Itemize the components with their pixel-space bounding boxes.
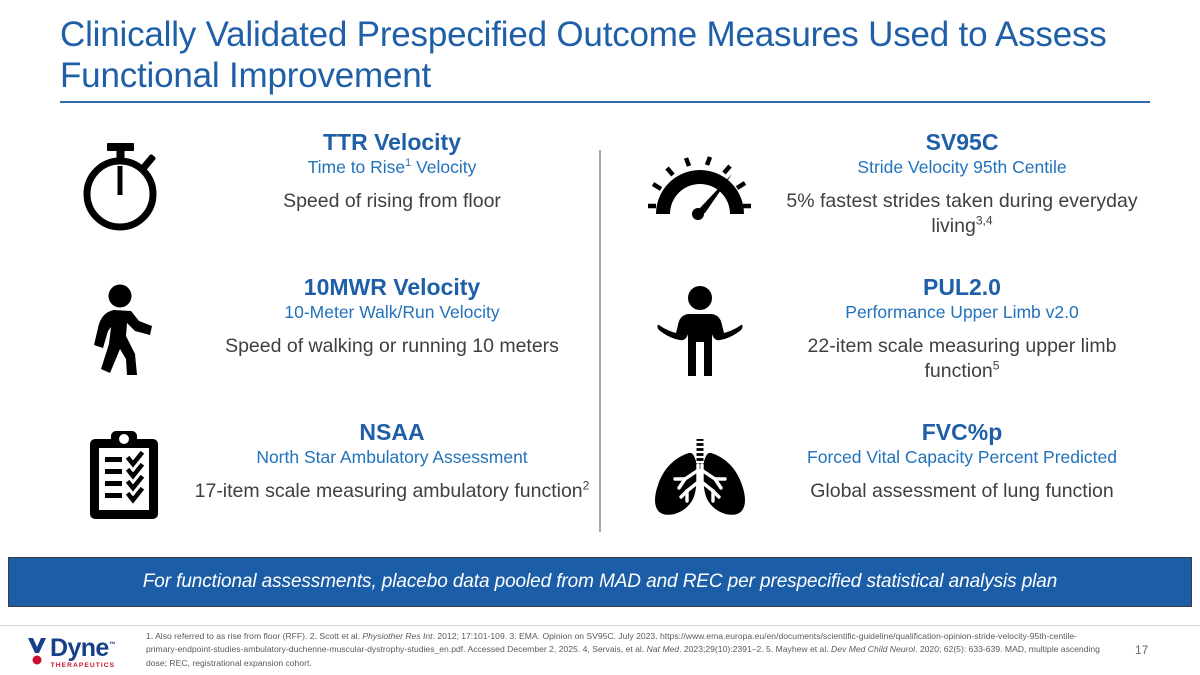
dyne-logo-subtitle: THERAPEUTICS [50, 662, 115, 669]
measure-abbr: 10MWR Velocity [192, 273, 592, 301]
page-number: 17 [1135, 643, 1148, 657]
measure-description-superscript: 2 [583, 478, 590, 492]
right-measures-column: SV95C Stride Velocity 95th Centile 5% fa… [612, 128, 1152, 563]
dyne-logo-mark-icon [26, 636, 48, 664]
stopwatch-icon [64, 136, 184, 236]
measure-text-block: TTR Velocity Time to Rise1 Velocity Spee… [192, 128, 592, 214]
dyne-logo-name-text: Dyne [50, 634, 109, 662]
slide-root: Clinically Validated Prespecified Outcom… [0, 0, 1200, 675]
measure-item-ttr-velocity: TTR Velocity Time to Rise1 Velocity Spee… [52, 128, 592, 273]
measure-description: Speed of rising from floor [192, 189, 592, 215]
page-title: Clinically Validated Prespecified Outcom… [60, 14, 1150, 97]
measure-abbr: SV95C [772, 128, 1152, 156]
measure-full-name: Stride Velocity 95th Centile [772, 156, 1152, 180]
measure-description-superscript: 3,4 [976, 214, 993, 228]
measure-full-name: North Star Ambulatory Assessment [192, 446, 592, 470]
measure-full-name-text: Performance Upper Limb v2.0 [845, 302, 1078, 322]
walking-person-icon [64, 281, 184, 381]
title-divider-rule [60, 101, 1150, 103]
banner-text: For functional assessments, placebo data… [143, 571, 1057, 593]
measure-text-block: FVC%p Forced Vital Capacity Percent Pred… [772, 418, 1152, 504]
measure-item-pul2: PUL2.0 Performance Upper Limb v2.0 22-it… [612, 273, 1152, 418]
measure-text-block: PUL2.0 Performance Upper Limb v2.0 22-it… [772, 273, 1152, 385]
measure-full-name: 10-Meter Walk/Run Velocity [192, 301, 592, 325]
trademark-symbol: ™ [109, 642, 115, 649]
measure-full-name: Time to Rise1 Velocity [192, 156, 592, 180]
measure-full-name-text: North Star Ambulatory Assessment [256, 447, 527, 467]
measure-description: 17-item scale measuring ambulatory funct… [192, 479, 592, 505]
measure-description: Speed of walking or running 10 meters [192, 334, 592, 360]
left-measures-column: TTR Velocity Time to Rise1 Velocity Spee… [52, 128, 592, 563]
measure-item-nsaa: NSAA North Star Ambulatory Assessment 17… [52, 418, 592, 563]
measure-description-text: Speed of walking or running 10 meters [225, 335, 559, 357]
footnote-journal-3: Dev Med Child Neurol [831, 644, 915, 654]
measure-description-text: 22-item scale measuring upper limb funct… [808, 335, 1117, 383]
measure-text-block: 10MWR Velocity 10-Meter Walk/Run Velocit… [192, 273, 592, 359]
column-divider [599, 150, 601, 532]
measure-item-fvcp: FVC%p Forced Vital Capacity Percent Pred… [612, 418, 1152, 563]
measure-abbr: NSAA [192, 418, 592, 446]
measure-full-name-text: Forced Vital Capacity Percent Predicted [807, 447, 1117, 467]
standing-person-arms-out-icon [640, 281, 760, 381]
measure-item-sv95c: SV95C Stride Velocity 95th Centile 5% fa… [612, 128, 1152, 273]
measure-description-superscript: 5 [993, 359, 1000, 373]
measure-abbr: PUL2.0 [772, 273, 1152, 301]
measure-full-name-text: Stride Velocity 95th Centile [857, 157, 1066, 177]
dyne-logo-wordmark: Dyne™ THERAPEUTICS [50, 636, 115, 669]
footnotes: 1. Also referred to as rise from floor (… [146, 630, 1106, 670]
dyne-therapeutics-logo: Dyne™ THERAPEUTICS [26, 636, 115, 669]
measure-item-10mwr-velocity: 10MWR Velocity 10-Meter Walk/Run Velocit… [52, 273, 592, 418]
measure-abbr: FVC%p [772, 418, 1152, 446]
measure-description: 22-item scale measuring upper limb funct… [772, 334, 1152, 385]
footer-divider-rule [0, 625, 1200, 626]
lungs-icon [640, 426, 760, 526]
measure-description-text: 17-item scale measuring ambulatory funct… [195, 480, 583, 502]
measure-abbr: TTR Velocity [192, 128, 592, 156]
footnote-journal-2: Nat Med [647, 644, 679, 654]
measure-description-text: Speed of rising from floor [283, 190, 501, 212]
footnote-journal-1: Physiother Res Int [362, 631, 432, 641]
measure-full-name: Forced Vital Capacity Percent Predicted [772, 446, 1152, 470]
measure-text-block: NSAA North Star Ambulatory Assessment 17… [192, 418, 592, 504]
footnote-part-1: 1. Also referred to as rise from floor (… [146, 631, 362, 641]
measure-description-text: Global assessment of lung function [810, 480, 1114, 502]
measure-full-name-text: 10-Meter Walk/Run Velocity [284, 302, 499, 322]
speedometer-icon [640, 136, 760, 236]
footnote-part-3: . 2023;29(10):2391–2. 5. Mayhew et al. [679, 644, 831, 654]
footer-callout-banner: For functional assessments, placebo data… [8, 557, 1192, 607]
measure-description: 5% fastest strides taken during everyday… [772, 189, 1152, 240]
measure-full-name: Performance Upper Limb v2.0 [772, 301, 1152, 325]
measure-text-block: SV95C Stride Velocity 95th Centile 5% fa… [772, 128, 1152, 240]
measure-description: Global assessment of lung function [772, 479, 1152, 505]
measure-description-text: 5% fastest strides taken during everyday… [786, 190, 1137, 238]
measure-full-name-tail: Velocity [411, 157, 476, 177]
clipboard-checklist-icon [64, 426, 184, 526]
measure-full-name-text: Time to Rise [308, 157, 406, 177]
dyne-logo-name: Dyne™ [50, 636, 115, 661]
